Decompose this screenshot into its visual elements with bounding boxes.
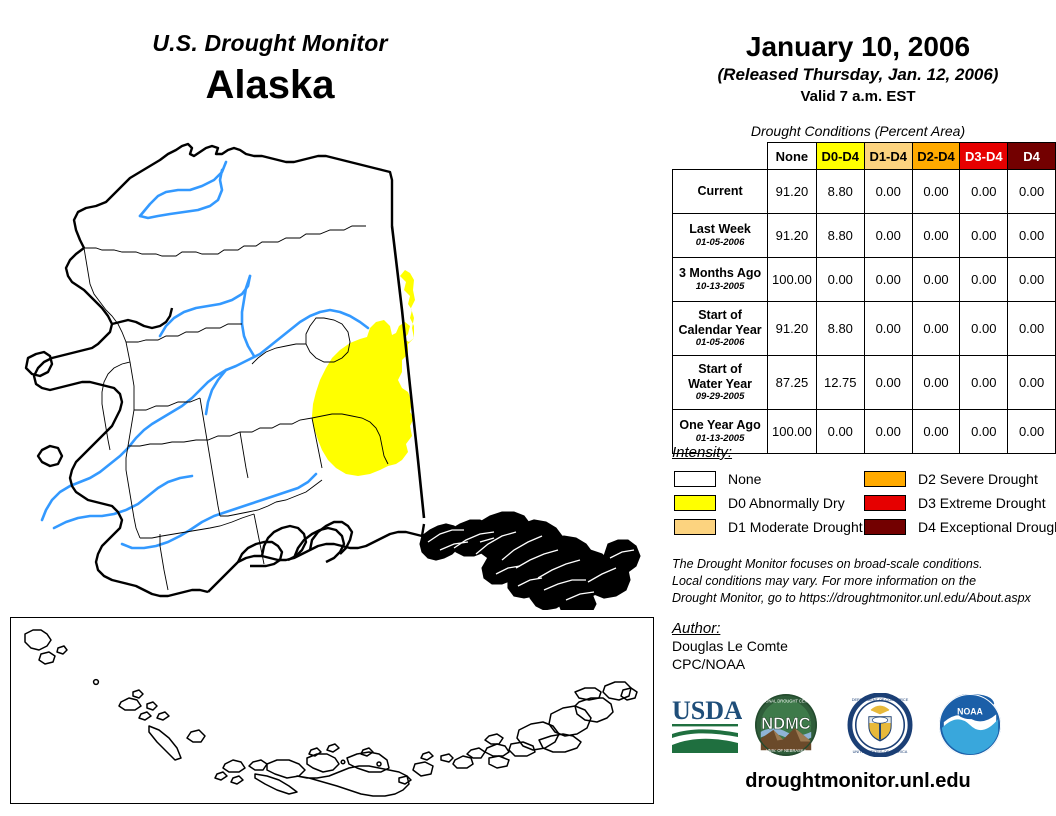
- table-cell: 91.20: [768, 302, 817, 356]
- table-cell: 100.00: [768, 258, 817, 302]
- table-cell: 0.00: [1008, 214, 1056, 258]
- table-cell: 0.00: [864, 410, 912, 454]
- table-body: Current91.208.800.000.000.000.00Last Wee…: [673, 170, 1056, 454]
- usda-logo: USDA: [670, 693, 742, 762]
- page-title-drought-monitor: U.S. Drought Monitor: [0, 30, 540, 57]
- table-cell: 0.00: [912, 410, 960, 454]
- usdoc-logo: DEPARTMENT OF COMMERCE UNITED STATES OF …: [847, 693, 913, 762]
- legend-label: D2 Severe Drought: [918, 471, 1038, 487]
- table-cell: 0.00: [816, 258, 864, 302]
- svg-text:USDA: USDA: [672, 696, 742, 725]
- table-cell: 8.80: [816, 214, 864, 258]
- table-row: Start ofCalendar Year01-05-200691.208.80…: [673, 302, 1056, 356]
- intensity-heading: Intensity:: [672, 444, 732, 461]
- disclaimer-line-2: Local conditions may vary. For more info…: [672, 573, 1052, 590]
- table-cell: 8.80: [816, 170, 864, 214]
- author-heading: Author:: [672, 620, 720, 637]
- table-row-date: 01-05-2006: [677, 238, 763, 249]
- legend-item: D0 Abnormally Dry: [674, 492, 863, 514]
- valid-time: Valid 7 a.m. EST: [660, 88, 1056, 105]
- svg-text:NOAA: NOAA: [957, 706, 983, 716]
- table-col-header-none: None: [768, 143, 817, 170]
- table-cell: 0.00: [960, 170, 1008, 214]
- legend-label: D4 Exceptional Drought: [918, 519, 1056, 535]
- table-cell: 0.00: [1008, 356, 1056, 410]
- legend-color-swatch: [674, 471, 716, 487]
- legend-item: D2 Severe Drought: [864, 468, 1056, 490]
- svg-text:NDMC: NDMC: [761, 715, 811, 733]
- table-col-header-d3-d4: D3-D4: [960, 143, 1008, 170]
- table-cell: 0.00: [864, 302, 912, 356]
- table-row: Start ofWater Year09-29-200587.2512.750.…: [673, 356, 1056, 410]
- table-cell: 0.00: [960, 258, 1008, 302]
- table-col-header-d2-d4: D2-D4: [912, 143, 960, 170]
- table-cell: 8.80: [816, 302, 864, 356]
- legend-item: None: [674, 468, 863, 490]
- legend-color-swatch: [864, 495, 906, 511]
- alaska-main-map: [10, 130, 660, 610]
- table-cell: 0.00: [864, 214, 912, 258]
- author-organization: CPC/NOAA: [672, 656, 745, 672]
- author-name: Douglas Le Comte: [672, 638, 788, 654]
- table-row-date: 01-05-2006: [677, 338, 763, 349]
- ndmc-logo: NDMC NATIONAL DROUGHT CENTER UNIV. OF NE…: [753, 693, 819, 762]
- table-cell: 0.00: [864, 258, 912, 302]
- noaa-logo: NOAA: [937, 693, 1003, 762]
- table-caption: Drought Conditions (Percent Area): [660, 123, 1056, 139]
- rivers-layer: [42, 162, 368, 548]
- intensity-legend-right: D2 Severe DroughtD3 Extreme DroughtD4 Ex…: [864, 468, 1056, 540]
- table-cell: 0.00: [960, 410, 1008, 454]
- table-row-header: Start ofWater Year09-29-2005: [673, 356, 768, 410]
- legend-label: D1 Moderate Drought: [728, 519, 863, 535]
- table-cell: 0.00: [1008, 258, 1056, 302]
- table-head: NoneD0-D4D1-D4D2-D4D3-D4D4: [673, 143, 1056, 170]
- legend-label: D0 Abnormally Dry: [728, 495, 845, 511]
- table-col-header-d0-d4: D0-D4: [816, 143, 864, 170]
- table-row-date: 09-29-2005: [677, 392, 763, 403]
- table-cell: 0.00: [1008, 170, 1056, 214]
- table-row-header: Current: [673, 170, 768, 214]
- aleutian-coastline: [25, 630, 637, 796]
- table-cell: 0.00: [912, 302, 960, 356]
- table-cell: 0.00: [1008, 410, 1056, 454]
- legend-color-swatch: [674, 495, 716, 511]
- svg-text:UNIV. OF NEBRASKA: UNIV. OF NEBRASKA: [766, 748, 807, 753]
- table-corner-cell: [673, 143, 768, 170]
- table-cell: 0.00: [912, 356, 960, 410]
- drought-area-d0: [312, 270, 415, 476]
- table-cell: 0.00: [960, 356, 1008, 410]
- table-cell: 0.00: [960, 302, 1008, 356]
- svg-text:UNITED STATES OF AMERICA: UNITED STATES OF AMERICA: [853, 749, 908, 754]
- table-cell: 0.00: [1008, 302, 1056, 356]
- disclaimer-line-3: Drought Monitor, go to https://droughtmo…: [672, 590, 1052, 607]
- table-cell: 0.00: [912, 170, 960, 214]
- table-cell: 0.00: [912, 214, 960, 258]
- table-cell: 0.00: [816, 410, 864, 454]
- drought-conditions-table: NoneD0-D4D1-D4D2-D4D3-D4D4 Current91.208…: [672, 142, 1056, 454]
- table-row: Current91.208.800.000.000.000.00: [673, 170, 1056, 214]
- page-title-state: Alaska: [0, 63, 540, 108]
- aleutian-islands-inset: [10, 617, 654, 804]
- table-row-date: 10-13-2005: [677, 282, 763, 293]
- table-cell: 100.00: [768, 410, 817, 454]
- table-cell: 0.00: [960, 214, 1008, 258]
- legend-label: D3 Extreme Drought: [918, 495, 1046, 511]
- table-row-header: Start ofCalendar Year01-05-2006: [673, 302, 768, 356]
- table-cell: 87.25: [768, 356, 817, 410]
- table-row-header: 3 Months Ago10-13-2005: [673, 258, 768, 302]
- legend-color-swatch: [674, 519, 716, 535]
- svg-text:NATIONAL DROUGHT CENTER: NATIONAL DROUGHT CENTER: [756, 699, 815, 704]
- table-cell: 91.20: [768, 214, 817, 258]
- table-row-header: Last Week01-05-2006: [673, 214, 768, 258]
- table-cell: 0.00: [864, 170, 912, 214]
- release-date: (Released Thursday, Jan. 12, 2006): [660, 65, 1056, 85]
- legend-color-swatch: [864, 471, 906, 487]
- disclaimer-line-1: The Drought Monitor focuses on broad-sca…: [672, 556, 1052, 573]
- table-cell: 0.00: [912, 258, 960, 302]
- svg-text:DEPARTMENT OF COMMERCE: DEPARTMENT OF COMMERCE: [852, 697, 909, 702]
- logo-row: USDA NDMC NATIONAL DROUGHT CENTER UNIV. …: [665, 693, 1055, 759]
- table-cell: 91.20: [768, 170, 817, 214]
- table-col-header-d4: D4: [1008, 143, 1056, 170]
- drought-monitor-page: U.S. Drought Monitor Alaska January 10, …: [0, 0, 1056, 816]
- legend-item: D1 Moderate Drought: [674, 516, 863, 538]
- disclaimer-text: The Drought Monitor focuses on broad-sca…: [672, 556, 1052, 607]
- table-cell: 0.00: [864, 356, 912, 410]
- table-row: 3 Months Ago10-13-2005100.000.000.000.00…: [673, 258, 1056, 302]
- legend-color-swatch: [864, 519, 906, 535]
- intensity-legend-left: NoneD0 Abnormally DryD1 Moderate Drought: [674, 468, 863, 540]
- table-row-date: 01-13-2005: [677, 434, 763, 445]
- map-date: January 10, 2006: [660, 31, 1056, 63]
- legend-label: None: [728, 471, 761, 487]
- website-url: droughtmonitor.unl.edu: [660, 770, 1056, 793]
- table-row: Last Week01-05-200691.208.800.000.000.00…: [673, 214, 1056, 258]
- table-cell: 12.75: [816, 356, 864, 410]
- legend-item: D4 Exceptional Drought: [864, 516, 1056, 538]
- southeast-panhandle: [420, 512, 640, 610]
- table-header-row: NoneD0-D4D1-D4D2-D4D3-D4D4: [673, 143, 1056, 170]
- legend-item: D3 Extreme Drought: [864, 492, 1056, 514]
- table-col-header-d1-d4: D1-D4: [864, 143, 912, 170]
